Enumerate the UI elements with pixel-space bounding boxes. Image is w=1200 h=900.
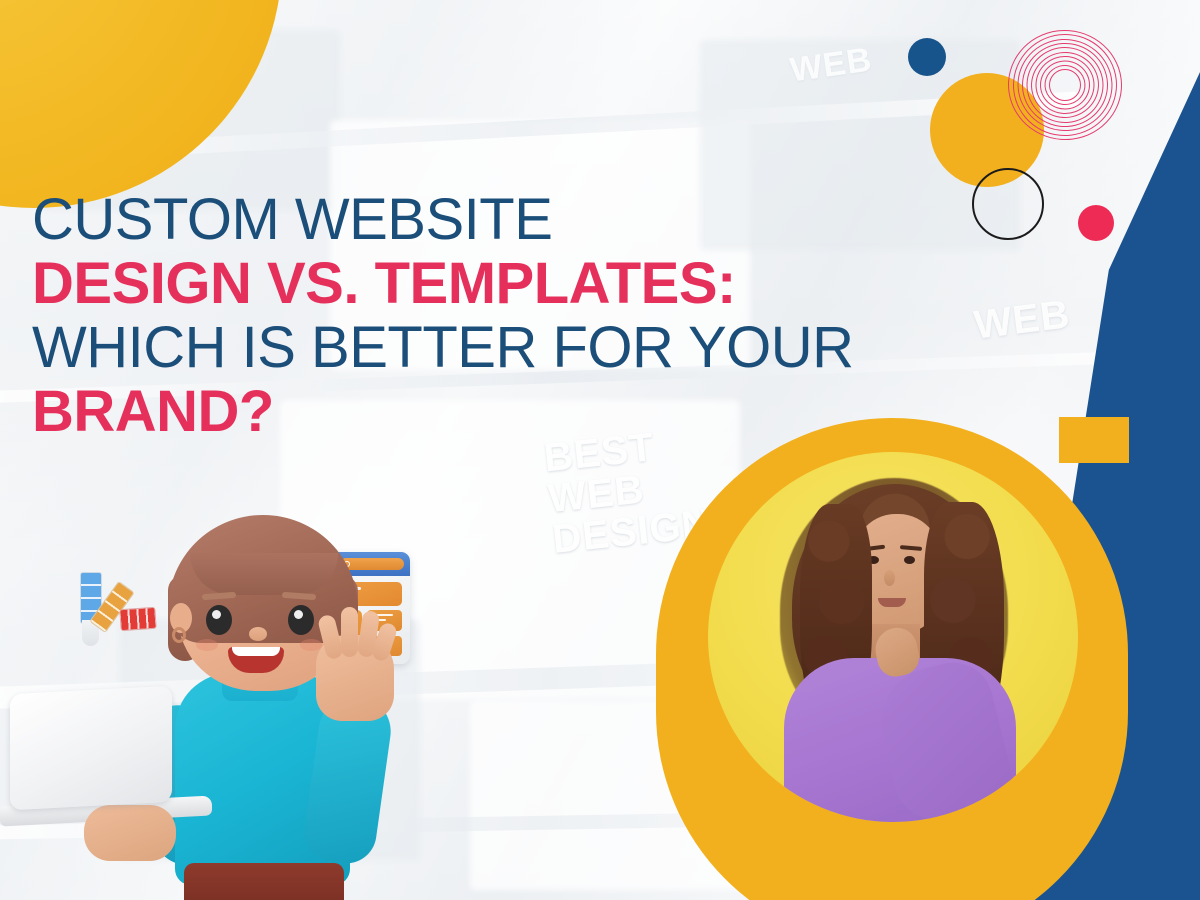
navy-dot-decoration	[908, 38, 946, 76]
headline-line-2: DESIGN VS. TEMPLATES:	[32, 252, 992, 316]
pink-dot-decoration	[1078, 205, 1114, 241]
3d-character-illustration	[0, 505, 420, 900]
headline-line-3: WHICH IS BETTER FOR YOUR	[32, 316, 992, 380]
concentric-pink-rings-icon	[1008, 28, 1122, 142]
blog-banner-graphic: WEB WEB BEST WEB DESIGN CUSTOM WEBSITE D…	[0, 0, 1200, 900]
headline-line-1: CUSTOM WEBSITE	[32, 188, 992, 252]
waving-hand-icon	[316, 635, 394, 721]
headline: CUSTOM WEBSITE DESIGN VS. TEMPLATES: WHI…	[32, 188, 992, 444]
laptop-screen	[10, 686, 172, 810]
woman-thinking-photo	[708, 452, 1078, 822]
